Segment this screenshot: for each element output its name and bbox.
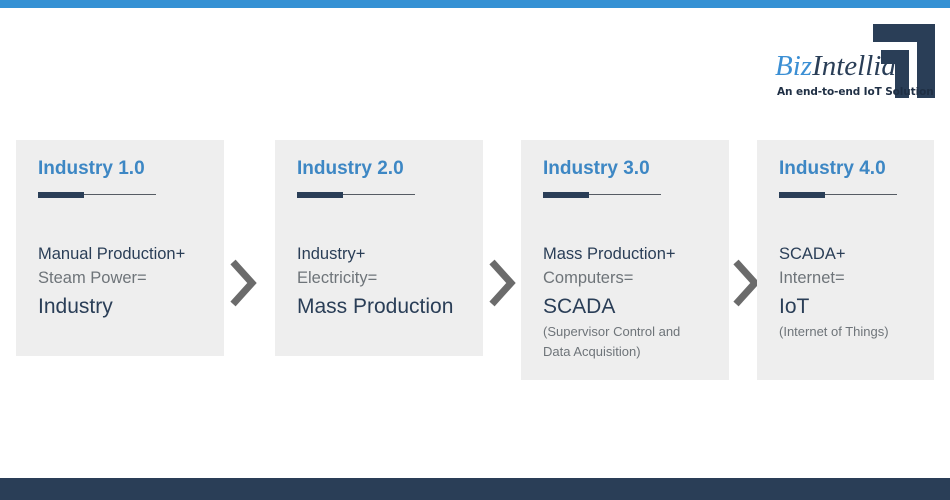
card-formula-input: Mass Production+ (543, 242, 719, 266)
card-note-line-1: (Supervisor Control and (543, 323, 719, 341)
industry-stage-card-3: Industry 3.0 Mass Production+ Computers=… (521, 140, 729, 380)
logo-tagline: An end-to-end IoT Solution (777, 86, 934, 98)
bizintellia-logo: BizIntellia An end-to-end IoT Solution (775, 24, 935, 104)
card-formula-operand: Computers= (543, 266, 719, 290)
card-title: Industry 1.0 (38, 158, 214, 181)
card-formula-input: Industry+ (297, 242, 473, 266)
chevron-right-icon-2 (487, 258, 517, 308)
card-title: Industry 4.0 (779, 158, 924, 181)
chevron-right-icon-1 (228, 258, 258, 308)
card-formula-result: SCADA (543, 292, 719, 322)
card-formula-result: Mass Production (297, 292, 473, 322)
card-body: SCADA+ Internet= IoT (Internet of Things… (779, 242, 924, 341)
card-formula-result: Industry (38, 292, 214, 322)
logo-intellia-text: Intellia (812, 50, 896, 82)
bottom-accent-bar (0, 478, 950, 500)
industry-stage-card-1: Industry 1.0 Manual Production+ Steam Po… (16, 140, 224, 356)
card-body: Mass Production+ Computers= SCADA (Super… (543, 242, 719, 361)
top-accent-bar (0, 0, 950, 8)
card-formula-operand: Steam Power= (38, 266, 214, 290)
progress-rule-fill (543, 192, 589, 198)
card-formula-operand: Electricity= (297, 266, 473, 290)
progress-rule (543, 192, 661, 198)
progress-rule (779, 192, 897, 198)
card-note-line-2: Data Acquisition) (543, 343, 719, 361)
card-title: Industry 2.0 (297, 158, 473, 181)
progress-rule-fill (297, 192, 343, 198)
card-body: Industry+ Electricity= Mass Production (297, 242, 473, 322)
progress-rule (38, 192, 156, 198)
industry-stage-card-2: Industry 2.0 Industry+ Electricity= Mass… (275, 140, 483, 356)
progress-rule-fill (779, 192, 825, 198)
card-title: Industry 3.0 (543, 158, 719, 181)
logo-wordmark: BizIntellia (775, 52, 920, 81)
card-formula-operand: Internet= (779, 266, 924, 290)
progress-rule (297, 192, 415, 198)
logo-biz-text: Biz (775, 50, 812, 82)
card-note-line-1: (Internet of Things) (779, 323, 924, 341)
card-formula-result: IoT (779, 292, 924, 322)
card-formula-input: Manual Production+ (38, 242, 214, 266)
card-body: Manual Production+ Steam Power= Industry (38, 242, 214, 322)
card-formula-input: SCADA+ (779, 242, 924, 266)
industry-stage-card-4: Industry 4.0 SCADA+ Internet= IoT (Inter… (757, 140, 934, 380)
progress-rule-fill (38, 192, 84, 198)
